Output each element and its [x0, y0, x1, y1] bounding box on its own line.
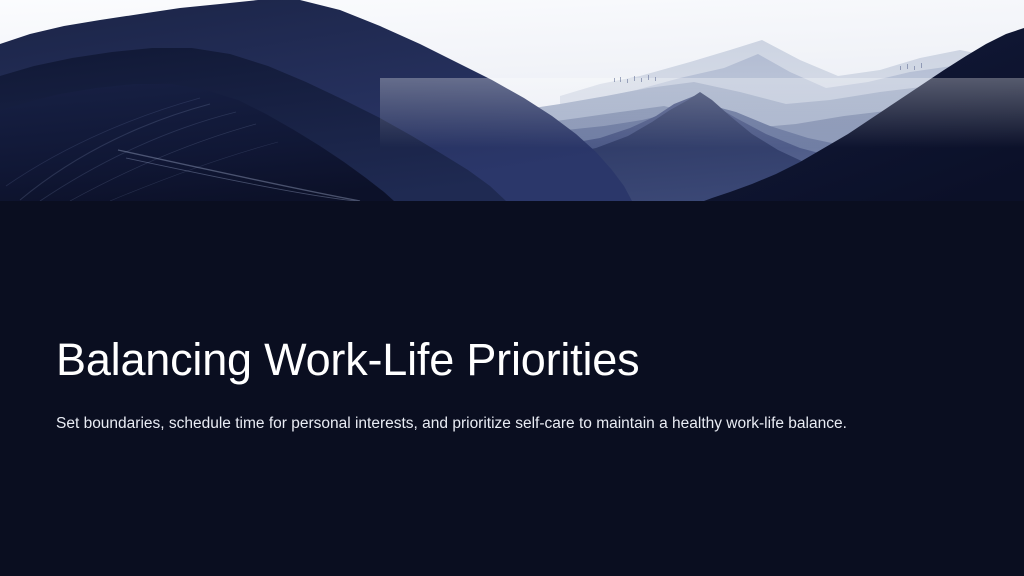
page-title: Balancing Work-Life Priorities [56, 337, 639, 382]
hero-image [0, 0, 1024, 201]
slide: Balancing Work-Life Priorities Set bound… [0, 0, 1024, 576]
page-subtitle: Set boundaries, schedule time for person… [56, 414, 847, 435]
atmospheric-haze [380, 78, 1024, 148]
mountain-landscape-illustration [0, 0, 1024, 201]
